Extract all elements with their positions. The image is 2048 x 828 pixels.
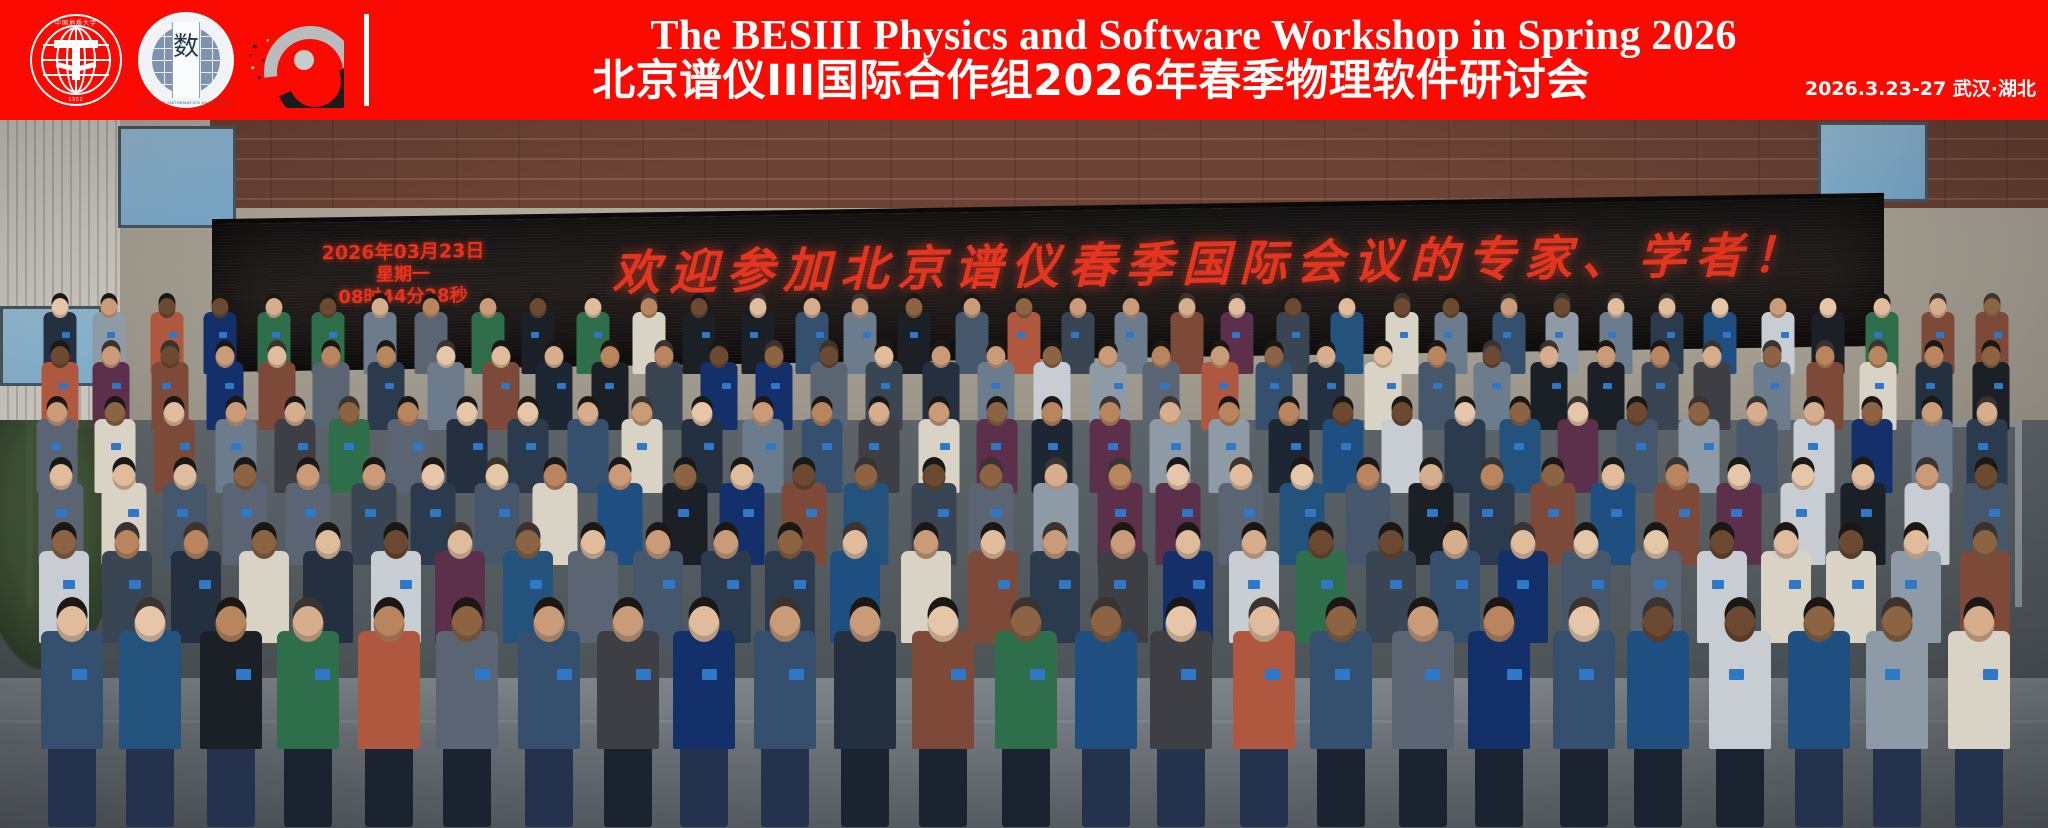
attendee-name-badge xyxy=(177,509,188,517)
attendee-name-badge xyxy=(1492,383,1501,389)
attendee xyxy=(1866,606,1928,755)
attendee-name-badge xyxy=(594,332,602,338)
attendee-name-badge xyxy=(1305,509,1316,517)
banner-titles: The BESIII Physics and Software Workshop… xyxy=(387,15,2048,104)
attendee-name-badge xyxy=(702,669,717,680)
attendee-name-badge xyxy=(1983,669,1998,680)
attendee-name-badge xyxy=(1425,669,1440,680)
attendee-name-badge xyxy=(702,332,710,338)
attendee-name-badge xyxy=(1507,669,1522,680)
attendee-name-badge xyxy=(1400,332,1408,338)
attendee-name-badge xyxy=(1667,332,1675,338)
attendee-name-badge xyxy=(111,443,121,450)
attendee-name-badge xyxy=(72,669,87,680)
screenshot-root: 中国地质大学 1952 数 SCHOOL OF MATHEMATICS AND … xyxy=(0,0,2048,828)
attendee-name-badge xyxy=(727,580,739,589)
conference-group-photo: 2026年03月23日 星期一 08时44分28秒 欢迎参加北京谱仪春季国际会议… xyxy=(0,120,2048,828)
attendee-name-badge xyxy=(1656,383,1665,389)
attendee-name-badge xyxy=(1781,332,1789,338)
attendee-name-badge xyxy=(951,669,966,680)
attendee-name-badge xyxy=(385,383,394,389)
attendee-name-badge xyxy=(991,509,1002,517)
attendee-name-badge xyxy=(305,509,316,517)
attendee-name-badge xyxy=(1875,383,1884,389)
attendee-name-badge xyxy=(1244,509,1255,517)
attendee-name-badge xyxy=(1874,332,1882,338)
attendee xyxy=(1627,606,1689,755)
attendee-name-badge xyxy=(236,669,251,680)
attendee-name-badge xyxy=(315,669,330,680)
attendee-name-badge xyxy=(231,443,241,450)
attendee-name-badge xyxy=(128,509,139,517)
attendee-name-badge xyxy=(816,332,824,338)
attendee-name-badge xyxy=(1994,383,2003,389)
conference-header-banner: 中国地质大学 1952 数 SCHOOL OF MATHEMATICS AND … xyxy=(0,0,2048,120)
seal-top-text: 中国地质大学 xyxy=(28,18,124,27)
attendee-name-badge xyxy=(1808,443,1818,450)
attendee xyxy=(358,606,420,755)
attendee-name-badge xyxy=(1517,580,1529,589)
attendee xyxy=(673,606,735,755)
workshop-title-chinese: 北京谱仪III国际合作组2026年春季物理软件研讨会 xyxy=(387,59,1795,105)
attendee-name-badge xyxy=(499,509,510,517)
attendee-name-badge xyxy=(1852,580,1864,589)
attendee-name-badge xyxy=(180,443,190,450)
attendee-name-badge xyxy=(1654,580,1666,589)
attendee-name-badge xyxy=(298,443,308,450)
attendee-name-badge xyxy=(1514,443,1524,450)
attendee-name-badge xyxy=(605,383,614,389)
attendee-name-badge xyxy=(910,332,918,338)
attendee-name-badge xyxy=(1270,383,1279,389)
attendee-name-badge xyxy=(1114,580,1126,589)
attendee-name-badge xyxy=(1126,332,1134,338)
attendee-name-badge xyxy=(1729,669,1744,680)
attendee-name-badge xyxy=(750,332,758,338)
attendee-name-badge xyxy=(430,509,441,517)
attendee-name-badge xyxy=(225,383,234,389)
attendee-name-badge xyxy=(1321,580,1333,589)
attendee-name-badge xyxy=(1636,443,1646,450)
seal-center-glyph: 数 xyxy=(173,34,199,60)
attendee-name-badge xyxy=(1723,332,1731,338)
attendee-name-badge xyxy=(1114,383,1123,389)
attendee xyxy=(277,606,339,755)
attendee xyxy=(1948,606,2010,755)
attendee-name-badge xyxy=(1115,509,1126,517)
attendee-name-badge xyxy=(1182,509,1193,517)
attendee-name-badge xyxy=(1592,580,1604,589)
workshop-title-english: The BESIII Physics and Software Workshop… xyxy=(387,15,2048,59)
attendee-name-badge xyxy=(1905,580,1917,589)
attendee-name-badge xyxy=(678,509,689,517)
attendee xyxy=(834,606,896,755)
attendee xyxy=(1150,606,1212,755)
attendee-name-badge xyxy=(771,383,780,389)
attendee-name-badge xyxy=(1433,383,1442,389)
attendee-name-badge xyxy=(1387,383,1396,389)
attendee-name-badge xyxy=(789,669,804,680)
seal-bottom-text: SCHOOL OF MATHEMATICS AND PHYSICS xyxy=(138,100,234,105)
attendee-name-badge xyxy=(1017,332,1025,338)
attendee-name-badge xyxy=(62,332,70,338)
attendee-name-badge xyxy=(636,669,651,680)
attendee-name-badge xyxy=(1456,580,1468,589)
attendee-name-badge xyxy=(1603,383,1612,389)
attendee-name-badge xyxy=(241,509,252,517)
attendee-name-badge xyxy=(1704,443,1714,450)
logo-group: 中国地质大学 1952 数 SCHOOL OF MATHEMATICS AND … xyxy=(28,12,344,108)
attendee-name-badge xyxy=(1226,443,1236,450)
attendee-name-badge xyxy=(1552,383,1561,389)
attendee-name-badge xyxy=(1059,580,1071,589)
attendee-name-badge xyxy=(1482,509,1493,517)
attendee-name-badge xyxy=(1181,669,1196,680)
attendee-name-badge xyxy=(501,383,510,389)
attendee-name-badge xyxy=(1712,580,1724,589)
attendee xyxy=(1468,606,1530,755)
attendee-name-badge xyxy=(1341,443,1351,450)
attendee xyxy=(1075,606,1137,755)
attendee-name-badge xyxy=(329,332,337,338)
attendee xyxy=(1392,606,1454,755)
attendee-name-badge xyxy=(822,443,832,450)
attendee-name-badge xyxy=(743,509,754,517)
attendee-name-badge xyxy=(991,443,1001,450)
attendee-name-badge xyxy=(51,443,61,450)
attendee-name-badge xyxy=(344,443,354,450)
attendee-name-badge xyxy=(1611,509,1622,517)
attendee-name-badge xyxy=(1444,332,1452,338)
attendee-name-badge xyxy=(663,580,675,589)
attendee-name-badge xyxy=(557,383,566,389)
attendee-name-badge xyxy=(169,332,177,338)
attendee-name-badge xyxy=(1978,443,1988,450)
attendee-name-badge xyxy=(938,509,949,517)
attendee-name-badge xyxy=(794,580,806,589)
attendee-name-badge xyxy=(1936,332,1944,338)
attendee xyxy=(912,606,974,755)
attendee-name-badge xyxy=(400,580,412,589)
attendee-name-badge xyxy=(531,332,539,338)
attendee xyxy=(754,606,816,755)
attendee xyxy=(1553,606,1615,755)
attendee-name-badge xyxy=(1608,332,1616,338)
attendee-name-badge xyxy=(1265,669,1280,680)
attendee xyxy=(518,606,580,755)
attendee-name-badge xyxy=(1579,669,1594,680)
attendee-name-badge xyxy=(1193,580,1205,589)
attendee-name-badge xyxy=(1232,332,1240,338)
attendee-name-badge xyxy=(1071,332,1079,338)
china-university-of-geosciences-seal-icon: 中国地质大学 1952 xyxy=(28,12,124,108)
attendee-name-badge xyxy=(1503,332,1511,338)
attendee-name-badge xyxy=(1926,383,1935,389)
attendee-name-badge xyxy=(869,443,879,450)
attendee-name-badge xyxy=(1248,580,1260,589)
attendee-name-badge xyxy=(1548,509,1559,517)
attendee-name-badge xyxy=(59,383,68,389)
attendee-name-badge xyxy=(162,383,171,389)
attendee-name-badge xyxy=(863,332,871,338)
attendee-name-badge xyxy=(557,669,572,680)
attendee-name-badge xyxy=(1679,509,1690,517)
attendee-name-badge xyxy=(1030,669,1045,680)
attendee-name-badge xyxy=(56,509,67,517)
attendee-name-badge xyxy=(129,580,141,589)
attendee-name-badge xyxy=(940,443,950,450)
attendee-name-badge xyxy=(991,383,1000,389)
attendee xyxy=(200,606,262,755)
attendee-name-badge xyxy=(1555,332,1563,338)
attendee-name-badge xyxy=(881,383,890,389)
attendee-name-badge xyxy=(413,443,423,450)
school-of-mathematics-and-physics-seal-icon: 数 SCHOOL OF MATHEMATICS AND PHYSICS xyxy=(138,12,234,108)
attendee xyxy=(1233,606,1295,755)
attendee-crowd xyxy=(0,120,2048,828)
attendee-name-badge xyxy=(1048,443,1058,450)
attendee-name-badge xyxy=(365,509,376,517)
attendee-name-badge xyxy=(766,443,776,450)
attendee-name-badge xyxy=(1160,383,1169,389)
attendee-name-badge xyxy=(704,443,714,450)
attendee-name-badge xyxy=(1885,669,1900,680)
attendee-name-badge xyxy=(998,580,1010,589)
banner-divider xyxy=(364,14,369,106)
attendee-name-badge xyxy=(473,443,483,450)
attendee xyxy=(1788,606,1850,755)
attendee-name-badge xyxy=(806,509,817,517)
workshop-date-location: 2026.3.23-27 武汉·湖北 xyxy=(1795,74,2048,101)
attendee xyxy=(995,606,1057,755)
attendee-name-badge xyxy=(1292,332,1300,338)
attendee-name-badge xyxy=(637,443,647,450)
seal-year-text: 1952 xyxy=(28,97,124,103)
attendee xyxy=(1709,606,1771,755)
attendee-name-badge xyxy=(272,332,280,338)
attendee xyxy=(1310,606,1372,755)
attendee-name-badge xyxy=(199,580,211,589)
attendee-name-badge xyxy=(112,383,121,389)
attendee-name-badge xyxy=(1390,580,1402,589)
attendee-name-badge xyxy=(219,332,227,338)
attendee-name-badge xyxy=(1731,509,1742,517)
attendee-name-badge xyxy=(1770,383,1779,389)
attendee-name-badge xyxy=(1861,509,1872,517)
attendee-name-badge xyxy=(1994,332,2002,338)
attendee-name-badge xyxy=(1171,443,1181,450)
attendee-name-badge xyxy=(63,580,75,589)
attendee-name-badge xyxy=(475,669,490,680)
attendee-name-badge xyxy=(1219,383,1228,389)
attendee xyxy=(119,606,181,755)
attendee xyxy=(41,606,103,755)
attendee-name-badge xyxy=(722,383,731,389)
attendee-name-badge xyxy=(107,332,115,338)
besiii-swirl-icon xyxy=(248,12,344,108)
attendee-name-badge xyxy=(1427,509,1438,517)
attendee-name-badge xyxy=(1796,509,1807,517)
attendee xyxy=(597,606,659,755)
attendee-name-badge xyxy=(1789,580,1801,589)
attendee-name-badge xyxy=(530,580,542,589)
attendee-name-badge xyxy=(1291,443,1301,450)
attendee-name-badge xyxy=(1335,669,1350,680)
attendee-name-badge xyxy=(1989,509,2000,517)
attendee xyxy=(436,606,498,755)
attendee-name-badge xyxy=(1108,443,1118,450)
attendee-name-badge xyxy=(526,443,536,450)
attendee-name-badge xyxy=(1327,383,1336,389)
